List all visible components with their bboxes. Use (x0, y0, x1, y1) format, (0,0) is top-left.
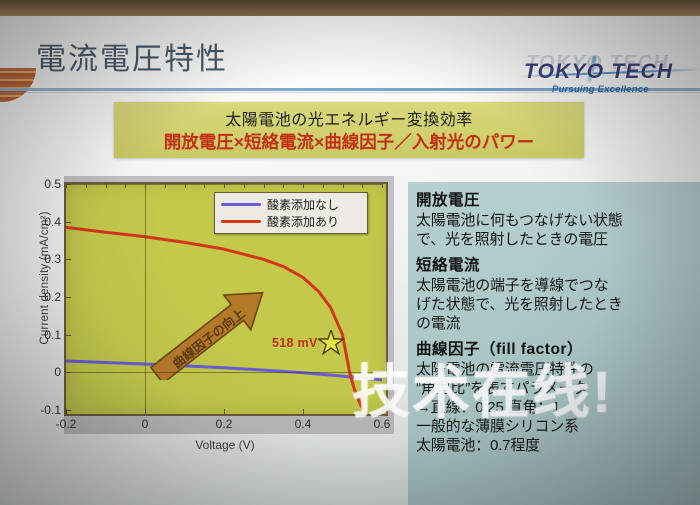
star-icon (318, 330, 344, 356)
legend-swatch-blue (221, 203, 261, 206)
photo-top-band (0, 0, 700, 16)
x-tick-mark (66, 409, 67, 414)
panel-line-1-0: 太陽電池の端子を導線でつな (416, 276, 700, 295)
voc-annotation: 518 mV (272, 336, 318, 350)
minor-tick (66, 184, 67, 188)
iv-curve-chart: Current density (mA/cm²) Voltage (V) 曲線因… (16, 176, 406, 461)
x-axis-label: Voltage (V) (60, 438, 390, 452)
minor-tick (185, 184, 186, 188)
y-tick-mark (66, 297, 71, 298)
fill-factor-arrow: 曲線因子の向上 (146, 272, 294, 380)
minor-tick (106, 184, 107, 188)
x-tick-mark (382, 409, 383, 414)
panel-line-2-2: →直線：0.25 直角：1 (416, 398, 700, 417)
y-tick-mark (66, 259, 71, 260)
legend-label-1: 酸素添加あり (267, 213, 339, 230)
minor-tick (283, 184, 284, 188)
legend-label-0: 酸素添加なし (267, 196, 339, 213)
minor-tick (343, 184, 344, 188)
explanation-panel: 開放電圧 太陽電池に何もつなげない状態 で、光を照射したときの電圧 短絡電流 太… (408, 182, 700, 505)
panel-line-1-1: げた状態で、光を照射したとき (416, 295, 700, 314)
panel-line-0-1: で、光を照射したときの電圧 (416, 230, 700, 249)
minor-tick (303, 184, 304, 188)
panel-line-2-1: ”角型比”を表すパラメータ (416, 379, 700, 398)
slide-screenshot: 電流電圧特性 TOKYO TECH TOKYO TECH Pursuing Ex… (0, 0, 700, 505)
y-tick-label: 0 (54, 365, 61, 379)
x-tick-label: -0.2 (56, 417, 77, 431)
logo-tagline: Pursuing Excellence (552, 84, 649, 95)
subtitle-banner: 太陽電池の光エネルギー変換効率 開放電圧×短絡電流×曲線因子／入射光のパワー (114, 102, 584, 158)
minor-tick (323, 184, 324, 188)
x-tick-mark (303, 409, 304, 414)
page-title: 電流電圧特性 (36, 34, 228, 78)
slide-surface: 電流電圧特性 TOKYO TECH TOKYO TECH Pursuing Ex… (0, 16, 700, 505)
corner-decoration (0, 68, 36, 102)
x-tick-label: 0.6 (374, 417, 391, 431)
panel-line-1-2: の電流 (416, 314, 700, 333)
gridline-y (66, 372, 382, 373)
minor-tick (244, 184, 245, 188)
x-tick-mark (145, 409, 146, 414)
y-tick-mark (66, 222, 71, 223)
banner-line-2: 開放電圧×短絡電流×曲線因子／入射光のパワー (114, 129, 584, 154)
chart-legend: 酸素添加なし 酸素添加あり (214, 192, 368, 234)
x-tick-label: 0 (142, 417, 149, 431)
panel-heading-0: 開放電圧 (416, 188, 700, 210)
panel-block-1: 短絡電流 太陽電池の端子を導線でつな げた状態で、光を照射したとき の電流 (414, 253, 700, 333)
panel-heading-1: 短絡電流 (416, 253, 700, 275)
y-tick-label: 0.5 (44, 177, 61, 191)
minor-tick (125, 184, 126, 188)
x-tick-label: 0.2 (216, 417, 233, 431)
minor-tick (264, 184, 265, 188)
panel-line-2-4: 太陽電池：0.7程度 (416, 436, 700, 455)
panel-heading-2: 曲線因子（fill factor） (416, 337, 700, 359)
gridline-x (145, 184, 146, 410)
voc-star-marker (318, 330, 344, 356)
panel-line-2-3: 一般的な薄膜シリコン系 (416, 417, 700, 436)
tokyo-tech-logo: TOKYO TECH TOKYO TECH Pursuing Excellenc… (524, 58, 690, 100)
y-tick-label: 0.3 (44, 252, 61, 266)
y-tick-label: 0.2 (44, 290, 61, 304)
minor-tick (382, 184, 383, 188)
banner-line-1: 太陽電池の光エネルギー変換効率 (114, 106, 584, 130)
panel-line-0-0: 太陽電池に何もつなげない状態 (416, 211, 700, 230)
y-tick-mark (66, 372, 71, 373)
y-tick-label: 0.4 (44, 215, 61, 229)
minor-tick (165, 184, 166, 188)
y-tick-mark (66, 335, 71, 336)
panel-line-2-0: 太陽電池の電流電圧特性の (416, 360, 700, 379)
y-tick-label: -0.1 (40, 403, 61, 417)
legend-swatch-red (221, 220, 261, 223)
minor-tick (224, 184, 225, 188)
minor-tick (362, 184, 363, 188)
minor-tick (86, 184, 87, 188)
minor-tick (145, 184, 146, 188)
panel-block-0: 開放電圧 太陽電池に何もつなげない状態 で、光を照射したときの電圧 (414, 188, 700, 249)
logo-wordmark: TOKYO TECH (524, 60, 673, 84)
x-tick-label: 0.4 (295, 417, 312, 431)
plot-area: 曲線因子の向上 518 mV 酸素添加なし 酸素添加あり (64, 182, 388, 416)
x-tick-mark (224, 409, 225, 414)
panel-block-2: 曲線因子（fill factor） 太陽電池の電流電圧特性の ”角型比”を表すパ… (414, 337, 700, 455)
minor-tick (204, 184, 205, 188)
y-tick-label: 0.1 (44, 328, 61, 342)
